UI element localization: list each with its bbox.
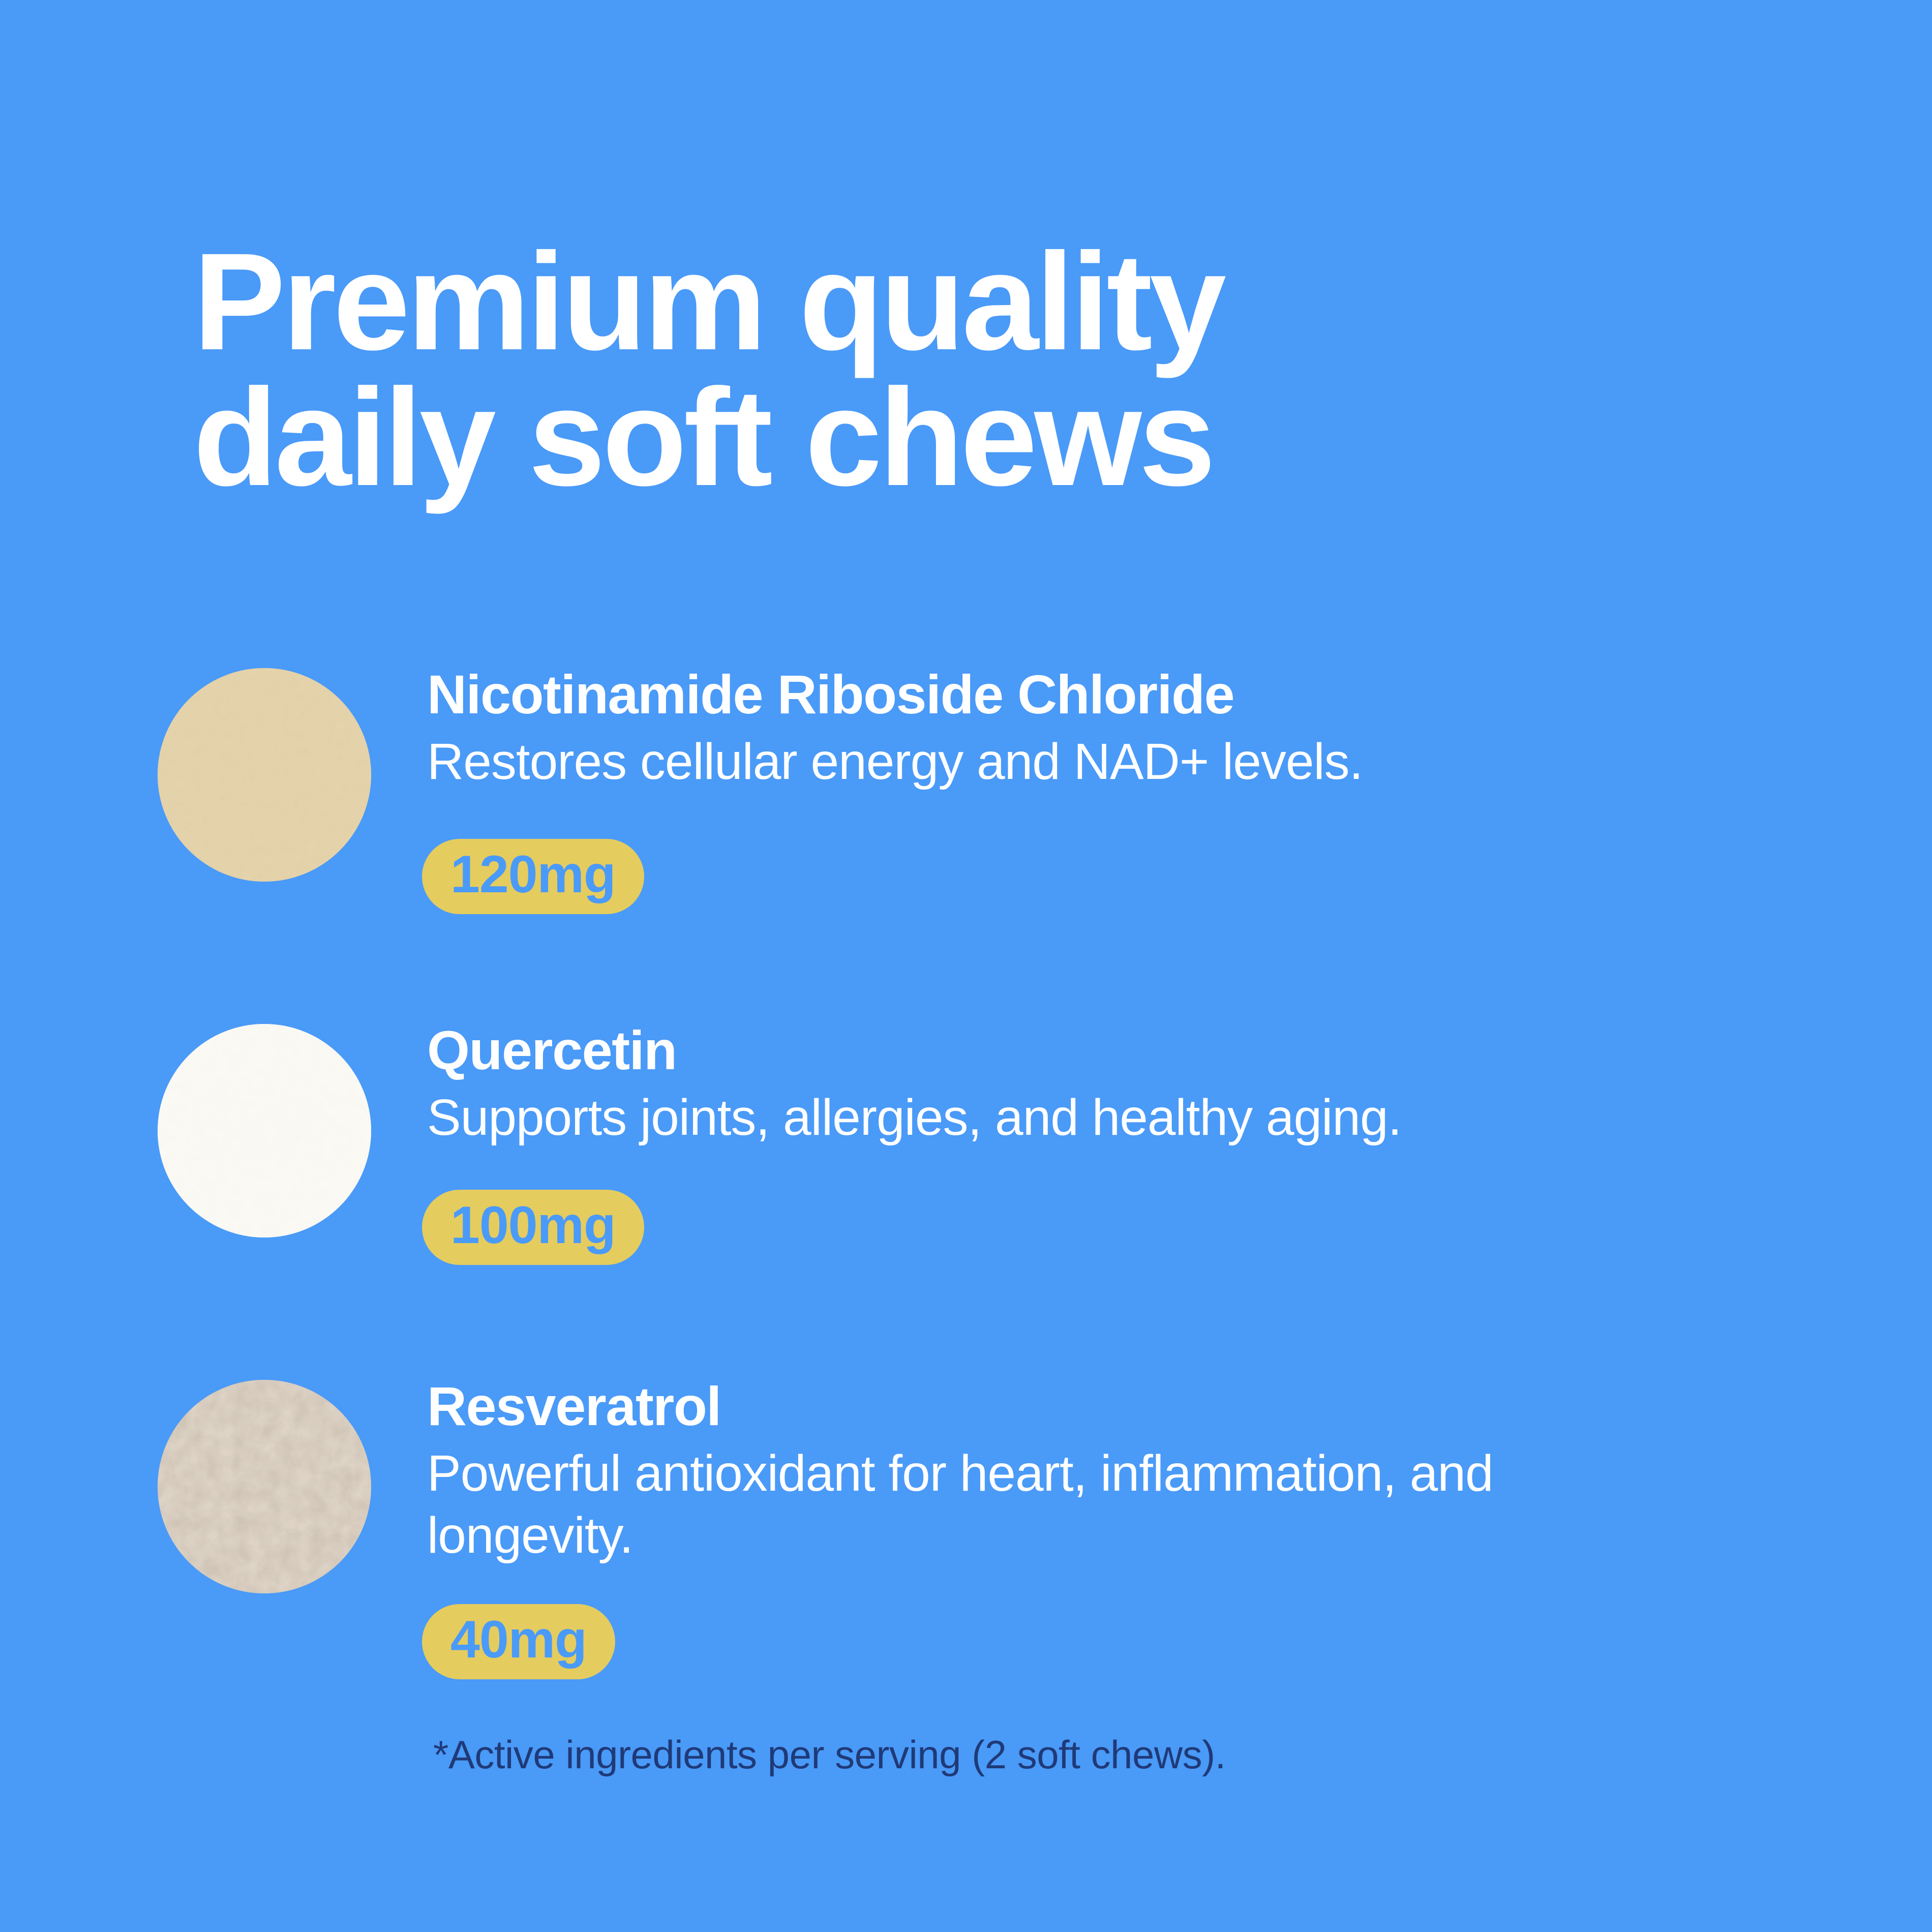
ingredient-row: Resveratrol Powerful antioxidant for hea… xyxy=(0,1373,1932,1759)
ingredient-name: Resveratrol xyxy=(427,1373,1851,1437)
page-headline: Premium quality daily soft chews xyxy=(193,234,1515,505)
ingredient-name: Nicotinamide Riboside Chloride xyxy=(427,661,1851,726)
ingredient-description: Powerful antioxidant for heart, inflamma… xyxy=(427,1437,1586,1566)
quercetin-powder-swatch xyxy=(158,1024,371,1237)
ingredient-list: Nicotinamide Riboside Chloride Restores … xyxy=(0,661,1932,1759)
nicotinamide-riboside-powder-swatch xyxy=(158,668,371,882)
resveratrol-powder-swatch xyxy=(158,1380,371,1593)
ingredient-text-block: Quercetin Supports joints, allergies, an… xyxy=(427,1017,1851,1149)
dose-badge: 100mg xyxy=(422,1190,644,1265)
dose-badge: 120mg xyxy=(422,839,644,914)
serving-footnote: *Active ingredients per serving (2 soft … xyxy=(433,1732,1226,1778)
headline-line-2: daily soft chews xyxy=(193,370,1515,505)
dose-badge: 40mg xyxy=(422,1604,615,1679)
ingredient-description: Supports joints, allergies, and healthy … xyxy=(427,1081,1586,1149)
headline-line-1: Premium quality xyxy=(193,234,1515,370)
ingredient-description: Restores cellular energy and NAD+ levels… xyxy=(427,726,1586,793)
ingredient-row: Quercetin Supports joints, allergies, an… xyxy=(0,1017,1932,1373)
ingredient-name: Quercetin xyxy=(427,1017,1851,1081)
ingredient-row: Nicotinamide Riboside Chloride Restores … xyxy=(0,661,1932,1017)
ingredient-text-block: Nicotinamide Riboside Chloride Restores … xyxy=(427,661,1851,793)
ingredient-text-block: Resveratrol Powerful antioxidant for hea… xyxy=(427,1373,1851,1566)
